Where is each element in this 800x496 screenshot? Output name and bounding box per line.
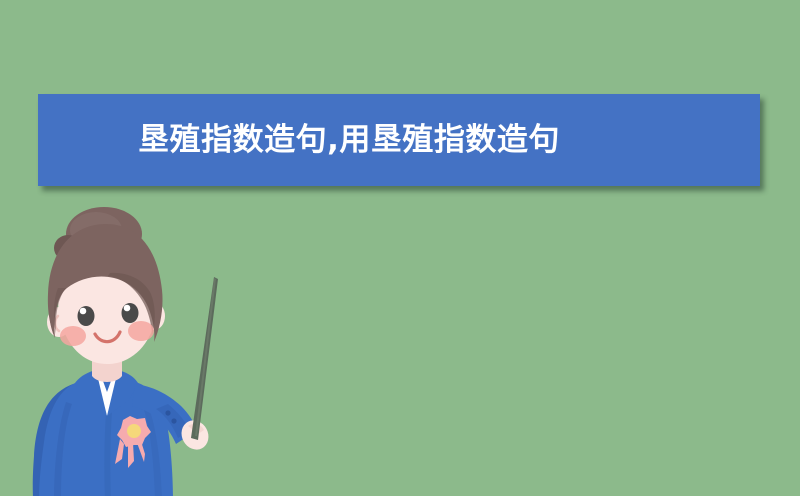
slide-canvas: 垦殖指数造句,用垦殖指数造句 [0,0,800,496]
left-eye-highlight [80,308,87,315]
right-eye [122,303,139,323]
teacher-illustration [18,216,258,496]
pointer-stick-highlight [195,278,216,436]
ribbon-center [127,424,141,438]
cuff-button-1 [165,410,170,415]
right-blush [128,321,154,341]
title-banner: 垦殖指数造句,用垦殖指数造句 [38,94,760,186]
page-title: 垦殖指数造句,用垦殖指数造句 [138,125,560,156]
left-blush [60,326,86,346]
right-eye-highlight [124,305,131,312]
cuff-button-2 [171,418,176,423]
jacket-body-group [33,370,197,496]
pointer-stick-group [191,277,218,440]
left-eye [78,306,95,326]
